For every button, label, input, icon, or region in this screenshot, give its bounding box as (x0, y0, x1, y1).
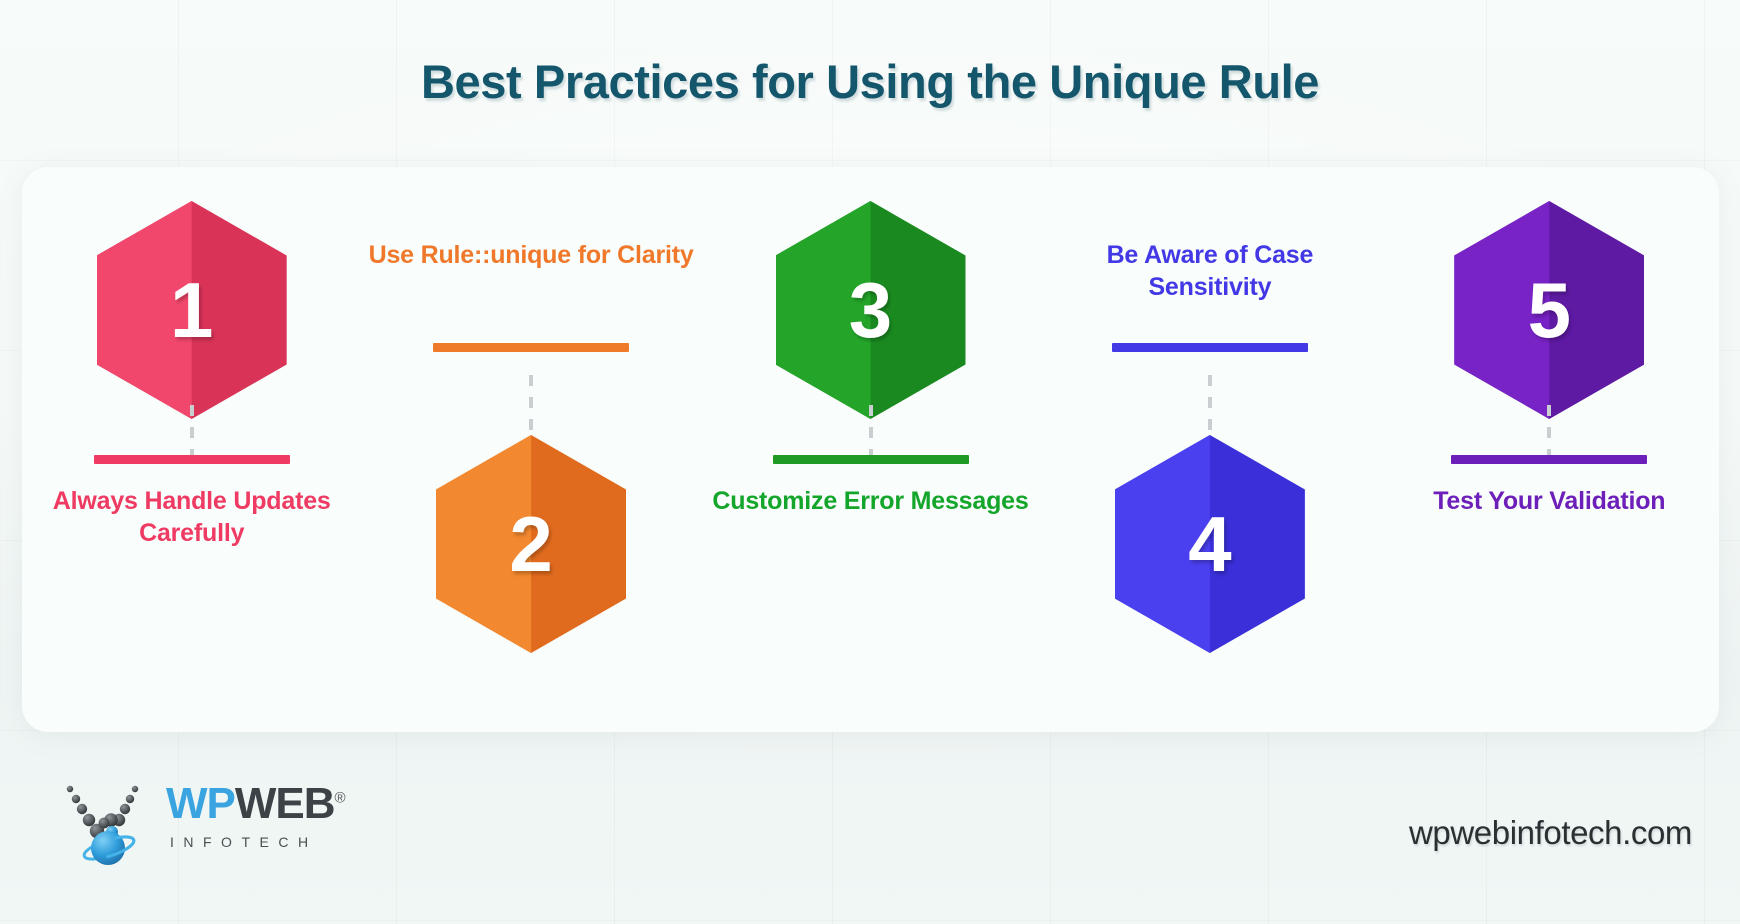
step-label-5: Test Your Validation (1384, 485, 1714, 517)
step-connector-4 (1208, 375, 1212, 437)
step-label-3: Customize Error Messages (706, 485, 1036, 517)
logo: WPWEB® INFOTECH (62, 776, 362, 868)
step-number-5: 5 (1528, 271, 1571, 349)
step-hexagon-5[interactable]: 5 (1454, 201, 1644, 419)
step-connector-2 (529, 375, 533, 437)
step-label-1: Always Handle Updates Carefully (27, 485, 357, 549)
step-column-1: 1Always Handle Updates Carefully (27, 167, 357, 732)
step-hexagon-4[interactable]: 4 (1115, 435, 1305, 653)
step-underline-2 (433, 343, 629, 352)
step-number-3: 3 (849, 271, 892, 349)
step-number-4: 4 (1188, 505, 1231, 583)
step-column-4: 4Be Aware of Case Sensitivity (1045, 167, 1375, 732)
step-hexagon-2[interactable]: 2 (436, 435, 626, 653)
wpweb-logo-icon (62, 776, 158, 868)
step-column-2: 2Use Rule::unique for Clarity (366, 167, 696, 732)
content-card: 1Always Handle Updates Carefully2Use Rul… (22, 167, 1719, 732)
logo-wp-text: WP (166, 779, 235, 828)
registered-trademark-icon: ® (335, 789, 345, 806)
step-hexagon-1[interactable]: 1 (97, 201, 287, 419)
website-url: wpwebinfotech.com (1409, 814, 1692, 852)
logo-web-text: WEB (235, 779, 335, 828)
logo-subtitle: INFOTECH (170, 834, 318, 850)
step-column-5: 5Test Your Validation (1384, 167, 1714, 732)
page-title: Best Practices for Using the Unique Rule (0, 54, 1740, 109)
step-number-2: 2 (509, 505, 552, 583)
step-underline-1 (94, 455, 290, 464)
step-column-3: 3Customize Error Messages (706, 167, 1036, 732)
logo-wordmark: WPWEB® (166, 782, 345, 826)
step-underline-4 (1112, 343, 1308, 352)
step-underline-3 (773, 455, 969, 464)
step-label-2: Use Rule::unique for Clarity (366, 239, 696, 271)
step-label-4: Be Aware of Case Sensitivity (1045, 239, 1375, 303)
step-hexagon-3[interactable]: 3 (776, 201, 966, 419)
step-underline-5 (1451, 455, 1647, 464)
step-number-1: 1 (170, 271, 213, 349)
